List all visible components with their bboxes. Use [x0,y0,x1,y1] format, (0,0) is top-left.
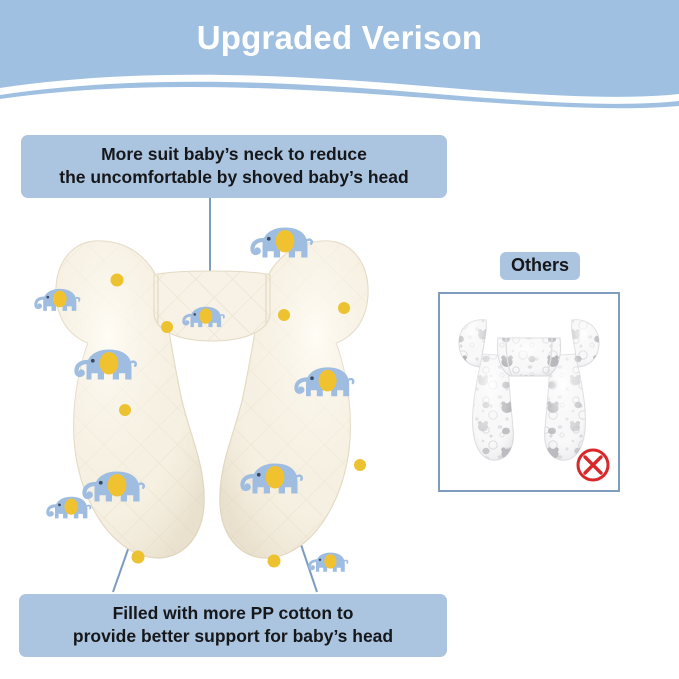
page-title: Upgraded Verison [0,19,679,57]
product-image-main [12,205,412,595]
callout-cotton-line2: provide better support for baby’s head [29,625,437,648]
callout-neck-line2: the uncomfortable by shoved baby’s head [31,166,437,189]
product-infographic: Upgraded Verison More suit baby’s neck t… [0,0,679,679]
callout-pp-cotton: Filled with more PP cotton to provide be… [19,594,447,657]
header-banner: Upgraded Verison [0,0,679,122]
callout-cotton-line1: Filled with more PP cotton to [29,602,437,625]
callout-neck-comfort: More suit baby’s neck to reduce the unco… [21,135,447,198]
comparison-label: Others [500,252,580,280]
callout-neck-line1: More suit baby’s neck to reduce [31,143,437,166]
comparison-box [438,292,620,492]
comparison-box-inner [444,298,614,486]
reject-x-icon [574,446,612,484]
